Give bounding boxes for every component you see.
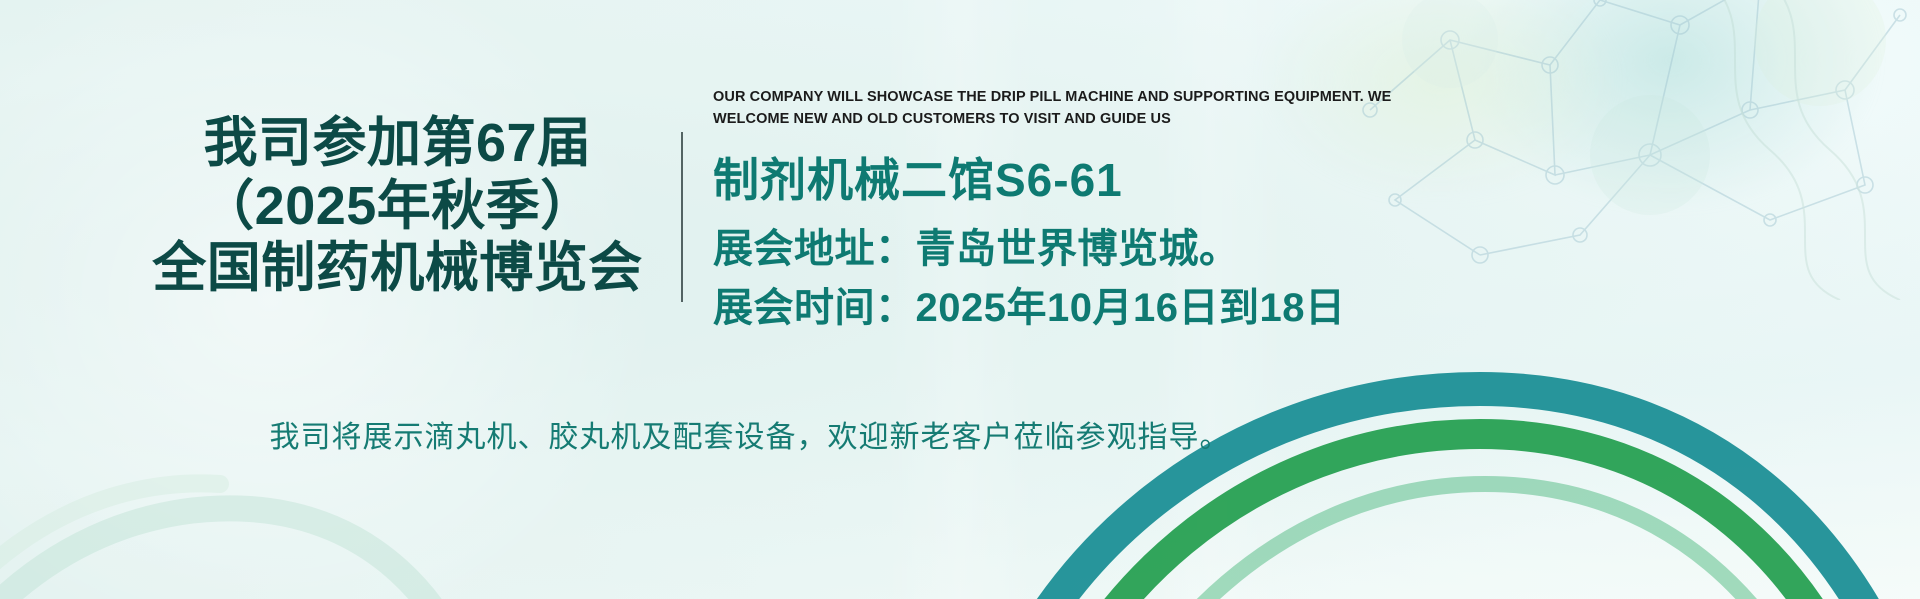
expo-dates: 展会时间：2025年10月16日到18日 bbox=[713, 285, 1893, 332]
booth-number: 制剂机械二馆S6-61 bbox=[713, 155, 1893, 206]
headline-line-1: 我司参加第67届 bbox=[120, 112, 675, 175]
headline-line-2: （2025年秋季） bbox=[120, 175, 675, 238]
details-block: OUR COMPANY WILL SHOWCASE THE DRIP PILL … bbox=[713, 86, 1893, 332]
expo-banner: 我司参加第67届 （2025年秋季） 全国制药机械博览会 OUR COMPANY… bbox=[0, 0, 1920, 599]
bottom-tagline: 我司将展示滴丸机、胶丸机及配套设备，欢迎新老客户莅临参观指导。 bbox=[0, 412, 1500, 456]
english-description: OUR COMPANY WILL SHOWCASE THE DRIP PILL … bbox=[713, 86, 1458, 131]
headline-line-3: 全国制药机械博览会 bbox=[120, 237, 675, 300]
expo-address: 展会地址：青岛世界博览城。 bbox=[713, 226, 1893, 273]
page-title: 我司参加第67届 （2025年秋季） 全国制药机械博览会 bbox=[120, 112, 675, 300]
vertical-divider bbox=[681, 132, 683, 302]
